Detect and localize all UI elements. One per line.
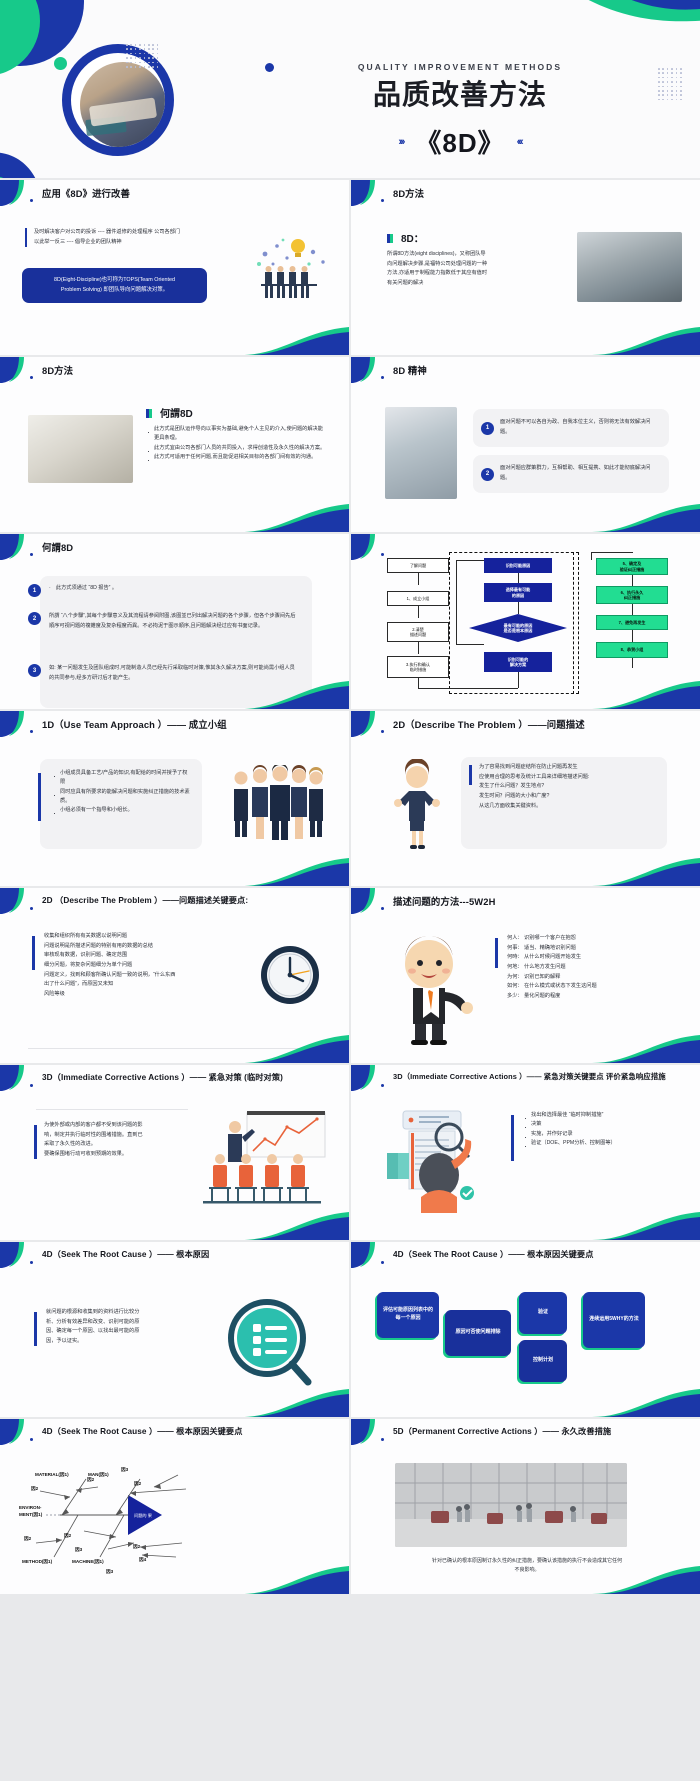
cover-dot-grid-right (658, 68, 690, 104)
slide-2[interactable]: 8D方法 8D： 所谓8D方法(eight disciplines)，又称团队导… (351, 180, 700, 355)
body-line: 问题定义，找到和顾客所确认问题一致的说明，“什么东西 (44, 971, 244, 981)
body-line: 因，予以证实。 (46, 1337, 170, 1347)
flow-node-right-8: 8、恭贺小组 (596, 642, 668, 658)
body-line: 析、分析有效差异和改变、识别可能的原 (46, 1318, 170, 1328)
description-text: 为使外部或内部的客户都不受到该问题的影 响，制定并执行临时性的围堵措施。直到已 … (44, 1121, 152, 1160)
sub-label: 因2 (134, 1481, 141, 1487)
list-item: 何事： 适当、精确地识别问题 (507, 944, 685, 954)
corner-wave-icon (592, 1210, 700, 1240)
accent-bar (511, 1115, 514, 1161)
cover-slide[interactable]: QUALITY IMPROVEMENT METHODS 品质改善方法 ››› 《… (0, 0, 700, 178)
meeting-presentation-illustration (195, 1109, 335, 1209)
slide-11[interactable]: 3D（Immediate Corrective Actions ）—— 紧急对策… (0, 1065, 349, 1240)
cover-subtitle-row: ››› 《8D》 ‹‹‹ (300, 123, 620, 160)
accent-bar (495, 938, 498, 968)
5w2h-list: 何人： 识别哪一个客户在抱怨 何事： 适当、精确地识别问题 何時： 从什么时候问… (507, 934, 685, 1001)
accent-bar (34, 1125, 37, 1159)
lead-line-2: 以此举一反三 ---- 倡导企业的团队精神 (34, 238, 265, 248)
item-text: 面对问题不可以各自为政、自我本位主义，否则将无法有效解决问题。 (500, 418, 658, 437)
flow-node-right-5: 5、确定及 验证纠正措施 (596, 558, 668, 575)
corner-wave-icon (592, 325, 700, 355)
sub-label: 因2 (64, 1533, 71, 1539)
corner-mark-icon (351, 711, 385, 737)
list-item: 小组必须有一个指导和小组长。 (52, 806, 190, 815)
slide-10[interactable]: 描述问题的方法---5W2H (351, 888, 700, 1063)
slide-title: 1D（Use Team Approach ）—— 成立小组 (42, 717, 227, 731)
list-item: 此方式宜由公司各部门人员的共同投入，求得创造性及永久性的解决方案。 (146, 444, 328, 453)
list-item: 多少： 量化问题的程度 (507, 992, 685, 1002)
flow-node-mid-2: 选择最有可能 的原因 (484, 583, 552, 602)
divider-top (36, 1109, 188, 1110)
presentation-thumbnail-sheet: QUALITY IMPROVEMENT METHODS 品质改善方法 ››› 《… (0, 0, 700, 1781)
body-line: 应使用合理的思考及统计工具来详细地描述问题: (479, 773, 661, 783)
clock-icon (259, 944, 321, 1006)
section-heading: 何謂8D (160, 405, 193, 420)
slide-13[interactable]: 4D（Seek The Root Cause ）—— 根本原因 就问题的根源和收… (0, 1242, 349, 1417)
flow-node-mid-1: 识别可能原因 (484, 558, 552, 573)
body-line: 为了容易找到问题症结所在防止问题再发生 (479, 763, 661, 773)
item-number: 1 (28, 584, 41, 597)
sub-label: 因3 (75, 1547, 82, 1553)
item-number: 1 (481, 422, 494, 435)
flow-node-right-7: 7、避免再发生 (596, 615, 668, 630)
chevrons-left-icon: ‹‹‹ (517, 136, 522, 148)
item-text: · 此方式须通过 “8D 报告” 。 (49, 584, 297, 597)
checklist-search-icon (219, 1294, 315, 1390)
decision-label: 最有可能的原因 是否是根本原因 (469, 614, 567, 642)
corner-mark-icon (351, 180, 385, 206)
body-line: 细分问题，将复杂问题细分为单个问题 (44, 961, 244, 971)
body-line: 方法,亦适用于制程能力指数低于其应有值时 (387, 269, 537, 279)
slide-title: 2D （Describe The Problem ）——问题描述关键要点: (42, 894, 248, 906)
description-text: 为了容易找到问题症结所在防止问题再发生 应使用合理的思考及统计工具来详细地描述问… (479, 763, 661, 811)
chevrons-right-icon: ››› (398, 136, 403, 148)
list-item: 为何： 识别已知的解释 (507, 973, 685, 983)
flow-node-right-6: 6、执行永久 纠正措施 (596, 586, 668, 604)
slide-title: 2D（Describe The Problem ）——问题描述 (393, 717, 585, 731)
lead-line-1: 及时解决客户对公司的投诉 ---- 器件返修的处理程序 公司各部门 (34, 228, 265, 238)
body-line: 采取了永久性的改进。 (44, 1140, 152, 1150)
corner-wave-icon (241, 325, 349, 355)
key-card-1: 评估可能原因列表中的每一个原因 (377, 1292, 439, 1338)
section-body: 所谓8D方法(eight disciplines)，又称团队导 向问题解决步骤,… (387, 250, 537, 289)
slide-7[interactable]: 1D（Use Team Approach ）—— 成立小组 小组成员具备工艺/产… (0, 711, 349, 886)
body-line: 向问题解决步骤,是福特公司处理问题的一种 (387, 260, 537, 270)
corner-mark-icon (351, 1065, 385, 1091)
spirit-item-2: 2 面对问题应群策群力，互相帮助、相互提携、如此才能彻底解决问题。 (473, 455, 669, 493)
flow-decision-diamond: 最有可能的原因 是否是根本原因 (469, 614, 567, 642)
list-item: 此方式是团队运作导向以事实为基础,避免个人主见的介入,使问题的解决能更具条理。 (146, 425, 328, 444)
slide-title: 3D（Immediate Corrective Actions ）—— 紧急对策… (393, 1071, 666, 1082)
list-item: 小组成员具备工艺/产品的知识,有配给的时间并授予了权限 (52, 769, 190, 788)
corner-mark-icon (0, 1065, 34, 1091)
body-line: 从这几方面收集关键资料。 (479, 802, 661, 812)
description-text: 就问题的根源和收集到的资料进行比较分 析、分析有效差异和改变、识别可能的原 因、… (46, 1308, 170, 1347)
body-line: 风险等级 (44, 990, 244, 1000)
corner-mark-icon (351, 357, 385, 383)
office-lobby-photo (395, 1463, 627, 1547)
list-item: 决策 (523, 1120, 679, 1129)
callout-line-2: Problem Solving) 即团队导向问题解决对策。 (30, 285, 199, 295)
slide-14[interactable]: 4D（Seek The Root Cause ）—— 根本原因关键要点 评估可能… (351, 1242, 700, 1417)
slide-12[interactable]: 3D（Immediate Corrective Actions ）—— 紧急对策… (351, 1065, 700, 1240)
corner-mark-icon (0, 888, 34, 914)
slide-title: 8D方法 (393, 186, 424, 200)
bone-label-environment: ENVIRON- MENT(因1) (19, 1505, 42, 1519)
slide-title: 3D（Immediate Corrective Actions ）—— 紧急对策… (42, 1071, 283, 1083)
key-card-2: 原因可否使问题排除 (445, 1310, 511, 1356)
cover-accent-dot-green (54, 57, 67, 70)
corner-mark-icon (0, 357, 34, 383)
body-line: 就问题的根源和收集到的资料进行比较分 (46, 1308, 170, 1318)
bone-label-material: MATERIAL(因1) (35, 1472, 69, 1478)
body-line: 发生了什么问题？发生地点? (479, 782, 661, 792)
bullet-list: 找出和选择最佳 “临时抑制措施” 决策 实施，并作好记录 验证（DOE、PPM分… (523, 1111, 679, 1148)
man-presenter-illustration (385, 928, 477, 1046)
corner-mark-icon (0, 1242, 34, 1268)
bullet-marker-icon (146, 409, 152, 418)
corner-mark-icon (351, 888, 385, 914)
list-item: 何地： 什么地方发生问题 (507, 963, 685, 973)
body-line: 因、确定每一个原因、以找出最可能的原 (46, 1327, 170, 1337)
cover-title: 品质改善方法 (300, 80, 620, 109)
list-item: 同时应具有所要求的能解决问题和实施纠正措施的技术素质。 (52, 788, 190, 807)
corner-wave-icon (241, 1387, 349, 1417)
body-line: 响，制定并执行临时性的围堵措施。直到已 (44, 1131, 152, 1141)
list-item: 如何： 在什么模式或状态下发生这问题 (507, 982, 685, 992)
accent-bar (469, 765, 472, 785)
slide-title: 8D方法 (42, 363, 73, 377)
bullet-list: 此方式是团队运作导向以事实为基础,避免个人主见的介入,使问题的解决能更具条理。 … (146, 425, 328, 462)
corner-wave-icon (592, 502, 700, 532)
corner-mark-icon (351, 1242, 385, 1268)
slide-title: 4D（Seek The Root Cause ）—— 根本原因 (42, 1248, 209, 1260)
corner-mark-icon (351, 1419, 385, 1445)
corner-wave-icon (241, 1033, 349, 1063)
bookshelf-photo (385, 407, 457, 499)
slide-5[interactable]: 何謂8D 1 · 此方式须通过 “8D 报告” 。 2 所謂 “八个步驟”,其每… (0, 534, 349, 709)
item-text: 所謂 “八个步驟”,其每个步驟意义及其流程请参阅附图,该图並已列出解决问题的各个… (49, 612, 297, 631)
sub-label: 因3 (121, 1467, 128, 1473)
accent-bar (34, 1312, 37, 1346)
corner-wave-icon (592, 1387, 700, 1417)
desk-laptop-photo (28, 415, 133, 483)
item-number: 2 (481, 468, 494, 481)
bone-label-method: METHOD(因1) (22, 1559, 52, 1565)
list-item: 何時： 从什么时候问题开始发生 (507, 953, 685, 963)
corner-mark-icon (0, 180, 34, 206)
flow-node-mid-4: 识别可能的 解决方案 (484, 652, 552, 672)
item-text: 面对问题应群策群力，互相帮助、相互提携、如此才能彻底解决问题。 (500, 464, 658, 483)
cover-accent-dot-blue (265, 63, 274, 72)
card-item-1: 1 · 此方式须通过 “8D 报告” 。 (28, 584, 310, 597)
cover-kicker: QUALITY IMPROVEMENT METHODS (300, 62, 620, 72)
bone-label-man: MAN(因1) (88, 1472, 109, 1478)
slide-title: 4D（Seek The Root Cause ）—— 根本原因关键要点 (393, 1248, 593, 1260)
spirit-item-1: 1 面对问题不可以各自为政、自我本位主义，否则将无法有效解决问题。 (473, 409, 669, 447)
body-line: 有关问题的解决 (387, 279, 537, 289)
flow-node-left-2: 1、成立小组 (387, 591, 449, 606)
callout-line-1: 8D(Eight-Discipline)也可称为TOPS(Team Orient… (30, 275, 199, 285)
corner-wave-icon (592, 679, 700, 709)
team-people-illustration (229, 765, 325, 843)
slide-6[interactable]: 了解问题 1、成立小组 2.清楚 描述问题 3.执行和确认 临时措施 识别可能原… (351, 534, 700, 709)
corner-wave-icon (592, 856, 700, 886)
corner-wave-icon (592, 1564, 700, 1594)
woman-character-illustration (391, 759, 443, 855)
sub-label: 因2 (31, 1486, 38, 1492)
meeting-room-photo (577, 232, 682, 302)
slide-9[interactable]: 2D （Describe The Problem ）——问题描述关键要点: 收集… (0, 888, 349, 1063)
body-line: 问题说明是所描述问题的特别有用的数据的总结 (44, 942, 244, 952)
key-card-3: 验证 (519, 1292, 567, 1334)
corner-mark-icon (0, 534, 34, 560)
key-card-4: 控制计划 (519, 1340, 567, 1382)
accent-bar (38, 773, 41, 821)
section-heading: 8D： (401, 230, 424, 245)
list-item: 实施，并作好记录 (523, 1130, 679, 1139)
corner-wave-icon (592, 1033, 700, 1063)
callout-box: 8D(Eight-Discipline)也可称为TOPS(Team Orient… (22, 268, 207, 303)
bullet-list: 小组成员具备工艺/产品的知识,有配给的时间并授予了权限 同时应具有所要求的能解决… (52, 769, 190, 816)
list-item: 验证（DOE、PPM分析、控制图等） (523, 1139, 679, 1148)
corner-wave-icon (241, 1210, 349, 1240)
slide-grid: 应用《8D》进行改善 及时解决客户对公司的投诉 ---- 器件返修的处理程序 公… (0, 178, 700, 1594)
sub-label: 因2 (133, 1544, 140, 1550)
body-line: 收集和组织所有有关数据以说明问题 (44, 932, 244, 942)
corner-wave-icon (241, 1564, 349, 1594)
slide-title: 应用《8D》进行改善 (42, 186, 130, 200)
dashed-divider-right (573, 552, 574, 694)
flow-node-left-3: 2.清楚 描述问题 (387, 622, 449, 642)
sub-label: 因3 (106, 1569, 113, 1575)
key-card-5: 连续运用5WHY的方法 (583, 1292, 645, 1348)
slide-3[interactable]: 8D方法 何謂8D 此方式是团队运作导向以事实为基础,避免个人主见的介入,使问题… (0, 357, 349, 532)
list-item: 找出和选择最佳 “临时抑制措施” (523, 1111, 679, 1120)
slide-15[interactable]: 4D（Seek The Root Cause ）—— 根本原因关键要点 问题的 … (0, 1419, 349, 1594)
body-line: 发生时间？问题的大小和广度? (479, 792, 661, 802)
key-points-text: 收集和组织所有有关数据以说明问题 问题说明是所描述问题的特别有用的数据的总结 审… (44, 932, 244, 999)
corner-wave-icon (241, 502, 349, 532)
slide-title: 5D（Permanent Corrective Actions ）—— 永久改善… (393, 1425, 611, 1437)
corner-mark-icon (0, 711, 34, 737)
body-line: 审核现有数据，识别问题、确定范围 (44, 951, 244, 961)
slide-8[interactable]: 2D（Describe The Problem ）——问题描述 为了容易找到问 (351, 711, 700, 886)
flow-node-left-1: 了解问题 (387, 558, 449, 573)
bullet-marker-icon (387, 234, 393, 243)
cover-dot-grid-left (126, 44, 162, 72)
sub-label: 因4 (139, 1557, 146, 1563)
corner-wave-icon (241, 856, 349, 886)
slide-title: 何謂8D (42, 540, 73, 554)
slide-title: 描述问题的方法---5W2H (393, 894, 495, 908)
document-review-illustration (377, 1105, 495, 1215)
card-item-2: 2 所謂 “八个步驟”,其每个步驟意义及其流程请参阅附图,该图並已列出解决问题的… (28, 612, 310, 631)
corner-mark-icon (0, 1419, 34, 1445)
corner-wave-icon (241, 679, 349, 709)
item-number: 2 (28, 612, 41, 625)
teamwork-idea-illustration (243, 232, 333, 302)
flow-node-left-4: 3.执行和确认 临时措施 (387, 656, 449, 678)
cover-subtitle: 《8D》 (415, 123, 504, 160)
body-line: 为使外部或内部的客户都不受到该问题的影 (44, 1121, 152, 1131)
bone-label-machine: MACHINE(因1) (72, 1559, 104, 1565)
slide-16[interactable]: 5D（Permanent Corrective Actions ）—— 永久改善… (351, 1419, 700, 1594)
cover-photo (80, 62, 166, 148)
slide-1[interactable]: 应用《8D》进行改善 及时解决客户对公司的投诉 ---- 器件返修的处理程序 公… (0, 180, 349, 355)
slide-4[interactable]: 8D 精神 1 面对问题不可以各自为政、自我本位主义，否则将无法有效解决问题。 … (351, 357, 700, 532)
slide-title: 4D（Seek The Root Cause ）—— 根本原因关键要点 (42, 1425, 242, 1437)
body-line: 出了什么问题”，而原因又未知 (44, 980, 244, 990)
slide-title: 8D 精神 (393, 363, 427, 377)
body-line: 要确保围堵行动可收到预期的效果。 (44, 1150, 152, 1160)
item-number: 3 (28, 664, 41, 677)
sub-label: 因2 (24, 1536, 31, 1542)
list-item: 何人： 识别哪一个客户在抱怨 (507, 934, 685, 944)
accent-bar (32, 936, 35, 970)
list-item: 此方式可适用于任何问题,而且能促进相关目标的各部门间有效的沟通。 (146, 453, 328, 462)
body-line: 所谓8D方法(eight disciplines)，又称团队导 (387, 250, 537, 260)
